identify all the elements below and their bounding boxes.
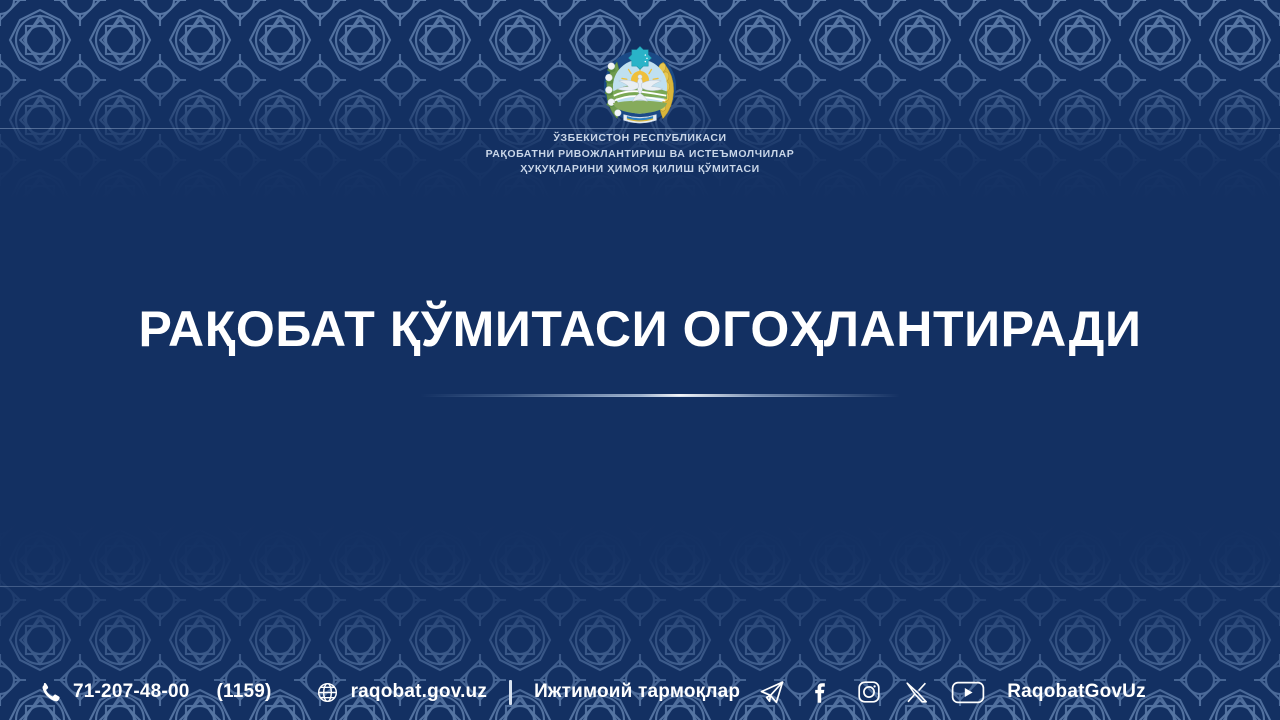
website-url: raqobat.gov.uz (351, 681, 488, 703)
facebook-icon[interactable] (808, 679, 834, 705)
footer-separator (509, 680, 512, 705)
organization-name: ЎЗБЕКИСТОН РЕСПУБЛИКАСИ РАҚОБАТНИ РИВОЖЛ… (0, 131, 1280, 178)
phone-extension: (1159) (216, 681, 271, 703)
page-title: РАҚОБАТ ҚЎМИТАСИ ОГОҲЛАНТИРАДИ (0, 300, 1280, 358)
instagram-icon[interactable] (856, 679, 882, 705)
phone-icon (38, 681, 60, 703)
contact-footer: 71-207-48-00 (1159) raqobat.gov.uz Ижтим… (0, 664, 1280, 720)
social-icons-row (758, 678, 985, 706)
slide-canvas: ЎЗБЕКИСТОН РЕСПУБЛИКАСИ РАҚОБАТНИ РИВОЖЛ… (0, 0, 1280, 720)
header-divider (0, 128, 1280, 129)
title-accent-rule (420, 394, 900, 397)
social-networks-label: Ижтимоий тармоқлар (534, 681, 740, 703)
hero-block: РАҚОБАТ ҚЎМИТАСИ ОГОҲЛАНТИРАДИ (0, 300, 1280, 358)
x-twitter-icon[interactable] (904, 680, 929, 705)
telegram-icon[interactable] (758, 678, 786, 706)
org-name-line-2: РАҚОБАТНИ РИВОЖЛАНТИРИШ ВА ИСТЕЪМОЛЧИЛАР (0, 147, 1280, 163)
uzbekistan-state-emblem-icon (599, 44, 681, 126)
youtube-icon[interactable] (951, 680, 985, 705)
footer-divider (0, 586, 1280, 587)
website-block[interactable]: raqobat.gov.uz (316, 681, 488, 704)
social-handle: RaqobatGovUz (1007, 681, 1146, 703)
phone-block[interactable]: 71-207-48-00 (1159) (38, 681, 272, 703)
globe-icon (316, 681, 339, 704)
phone-number: 71-207-48-00 (73, 681, 189, 703)
org-name-line-3: ҲУҚУҚЛАРИНИ ҲИМОЯ ҚИЛИШ ҚЎМИТАСИ (0, 162, 1280, 178)
org-name-line-1: ЎЗБЕКИСТОН РЕСПУБЛИКАСИ (0, 131, 1280, 147)
